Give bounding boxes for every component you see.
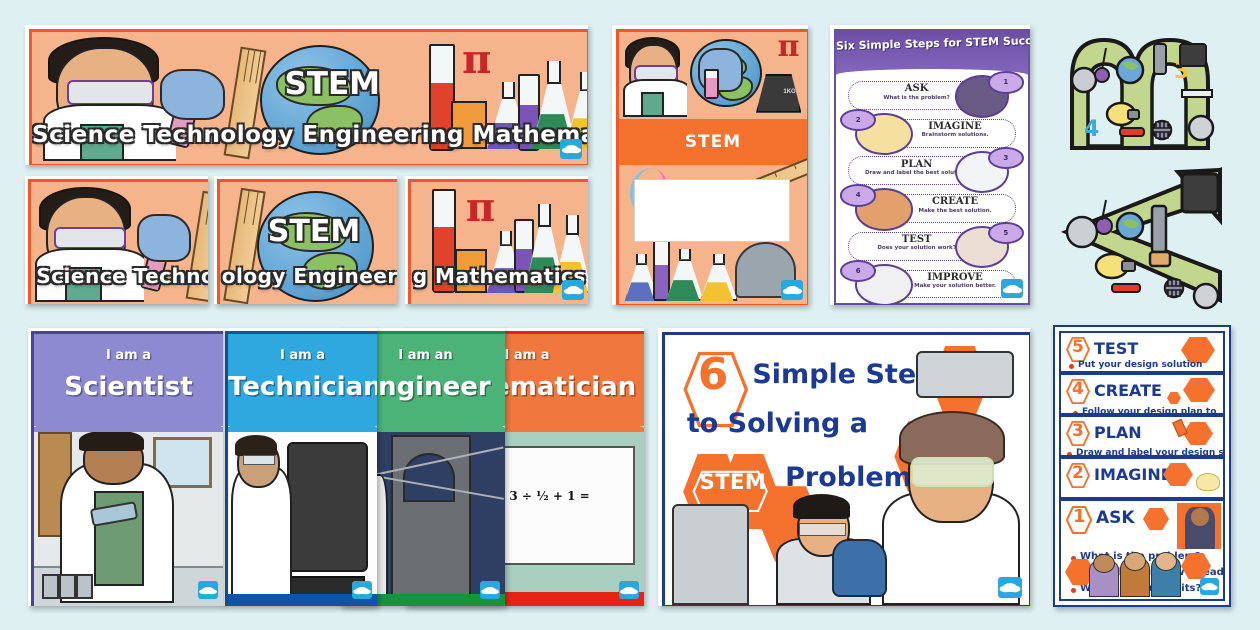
- resource-pack-collage: STEM π Science Technology Eng: [0, 0, 1260, 630]
- stem-poster-band-label: STEM: [685, 132, 741, 152]
- twinkl-logo: [1200, 578, 1219, 595]
- female-scientist-illustration: [876, 411, 1022, 605]
- twinkl-logo: [198, 581, 218, 599]
- pencil-icon: [1154, 44, 1166, 74]
- big-six-steps-poster: 6 Simple Steps to Solving a STEM Problem: [662, 332, 1030, 606]
- banner-subtitle: Science Technology Engineering Mathemati…: [32, 122, 587, 148]
- step-number: 3: [988, 147, 1025, 169]
- banner-split-text-2: ology Engineering: [222, 264, 397, 288]
- banner-stem-word: STEM: [285, 66, 381, 102]
- role-poster-scientist[interactable]: I am a Scientist: [28, 328, 223, 606]
- conical-flask-yellow: [700, 254, 734, 301]
- microbe-icon: [1095, 68, 1109, 82]
- banner-split-text-1: Science Techno: [36, 264, 208, 288]
- stem-poster-top-art: π 1KG: [619, 32, 807, 119]
- twinkl-logo: [781, 280, 803, 300]
- test-tube: [704, 69, 719, 99]
- six-steps-title: Six Simple Steps for STEM Success: [836, 34, 1028, 52]
- student-group-illustration: [1089, 555, 1181, 597]
- scientist-illustration: [623, 35, 687, 117]
- six-steps-row: CREATE Make the best solution. 4: [836, 190, 1028, 225]
- stem-poster-art: π 1KG STEM: [616, 29, 808, 305]
- role-name: Scientist: [34, 372, 223, 402]
- role-poster-technician[interactable]: I am a Technician: [222, 328, 377, 606]
- magnet-icon: [1120, 128, 1144, 136]
- step-number: 5: [988, 222, 1025, 244]
- six-steps-row: TEST Does your solution work? 5: [836, 228, 1028, 263]
- twinkl-logo: [352, 581, 372, 599]
- big-poster-stem: STEM: [700, 470, 767, 494]
- display-letter-a[interactable]: [1052, 160, 1232, 310]
- role-scene-technician: [228, 432, 377, 606]
- step-card-create[interactable]: 4 CREATE Follow your design plan to: [1059, 373, 1225, 415]
- screen-icon: [1182, 174, 1218, 212]
- globe-icon: [1117, 57, 1143, 83]
- robot-arm-illustration: [916, 351, 1015, 398]
- step-number: 3: [1072, 421, 1084, 441]
- stem-poster-card[interactable]: π 1KG STEM: [612, 25, 808, 305]
- hexagon-decor-small: [1167, 392, 1181, 404]
- display-letter-m[interactable]: 4 3: [1058, 30, 1228, 150]
- student-head: [1191, 508, 1209, 526]
- gloved-hand: [160, 69, 225, 121]
- moon-icon: [1189, 116, 1213, 140]
- twinkl-logo: [480, 581, 500, 599]
- stem-poster-band: STEM: [619, 119, 807, 165]
- step-number: 1: [1073, 506, 1086, 527]
- banner-full-card[interactable]: STEM π Science Technology Eng: [25, 25, 588, 165]
- six-steps-poster-card[interactable]: Six Simple Steps for STEM Success ASK Wh…: [830, 25, 1030, 305]
- lightbulb-icon: [1196, 473, 1220, 491]
- six-steps-body: ASK What is the problem? 1 IMAGINE Brain…: [836, 75, 1028, 303]
- computer-monitor: [287, 442, 368, 571]
- twinkl-logo: [562, 280, 584, 300]
- pi-symbol: π: [466, 184, 495, 231]
- microbe-icon: [1096, 218, 1112, 234]
- letter-m-shape: 4 3: [1058, 30, 1228, 150]
- six-steps-row: IMAGINE Brainstorm solutions. 2: [836, 115, 1028, 150]
- twinkl-logo: [560, 139, 582, 159]
- pi-symbol: π: [462, 36, 491, 83]
- hexagon-decor: [1183, 378, 1215, 402]
- step-number: 4: [840, 184, 877, 206]
- weight-label: 1KG: [783, 89, 795, 95]
- role-prefix: I am a: [34, 348, 223, 363]
- banner-split-art-1: Science Techno: [28, 179, 208, 304]
- step-card-test[interactable]: 5 TEST Put your design solution: [1059, 331, 1225, 373]
- role-art: I am a Technician: [225, 331, 377, 606]
- twinkl-logo: [1001, 279, 1023, 298]
- banner-split-stem-word: STEM: [268, 214, 360, 249]
- number-4: 4: [1084, 117, 1099, 142]
- step-card-ask[interactable]: 1 ASK What is the problem? What do you k…: [1059, 499, 1225, 601]
- role-art: I am a Scientist: [31, 331, 223, 606]
- moon-icon: [1067, 217, 1097, 247]
- conical-flask-green: [666, 249, 700, 302]
- banner-split-art-3: π g Mathematics: [408, 179, 588, 304]
- step-bullet: Put your design solution: [1078, 360, 1202, 370]
- moon-icon: [1194, 284, 1218, 308]
- hexagon-decor: [1143, 508, 1169, 530]
- six-steps-row: IMPROVE Make your solution better. 6: [836, 265, 1028, 300]
- step-bullet: Follow your design plan to: [1082, 407, 1216, 415]
- hexagon-decor: [1183, 422, 1213, 445]
- role-prefix: I am a: [228, 348, 377, 363]
- step-bullet: Draw and label your design solution: [1076, 448, 1225, 457]
- pi-symbol: π: [778, 29, 800, 64]
- step-title: PLAN: [1094, 423, 1142, 442]
- stem-poster-text-box[interactable]: [634, 179, 790, 242]
- step-card-plan[interactable]: 3 PLAN Draw and label your design soluti…: [1059, 415, 1225, 457]
- twinkl-logo: [619, 581, 639, 599]
- conical-flask-blue: [625, 254, 655, 301]
- step-title: TEST: [1094, 339, 1138, 358]
- six-steps-row: ASK What is the problem? 1: [836, 77, 1028, 112]
- step-title: ASK: [1096, 508, 1135, 528]
- six-steps-header: Six Simple Steps for STEM Success: [836, 31, 1028, 75]
- big-six-steps-poster-card[interactable]: 6 Simple Steps to Solving a STEM Problem: [658, 328, 1030, 606]
- twinkl-logo: [998, 577, 1022, 598]
- banner-split-art-2: STEM ology Engineering: [217, 179, 397, 304]
- role-name: Technician: [228, 372, 377, 402]
- stem-poster-bottom-art: [619, 165, 807, 304]
- gloved-hand-blue: [832, 539, 887, 597]
- letter-a-shape: [1052, 160, 1232, 310]
- big-poster-line2: to Solving a: [687, 408, 868, 439]
- banner-split-panel-3[interactable]: π g Mathematics: [405, 176, 588, 304]
- moon-icon: [1072, 68, 1096, 92]
- ruler-icon: [1182, 90, 1212, 97]
- step-title: CREATE: [1094, 381, 1162, 400]
- step-number: 1: [988, 71, 1025, 93]
- big-poster-number: 6: [698, 349, 729, 400]
- role-scene-scientist: [34, 432, 223, 606]
- saw-icon: [1152, 206, 1166, 252]
- magnet-icon: [1112, 284, 1140, 292]
- six-steps-row: PLAN Draw and label the best solution. 3: [836, 152, 1028, 187]
- step-title: IMAGINE: [1094, 465, 1172, 484]
- step-number: 2: [1072, 463, 1084, 483]
- banner-split-panel-1[interactable]: Science Techno: [25, 176, 208, 304]
- screen-icon: [1180, 44, 1206, 66]
- banner-full-art: STEM π Science Technology Eng: [29, 29, 588, 165]
- banner-split-panel-2[interactable]: STEM ology Engineering: [214, 176, 397, 304]
- gloved-hand: [137, 214, 191, 262]
- step-number: 5: [1072, 337, 1084, 357]
- step-cards-stack[interactable]: 5 TEST Put your design solution 4 CREATE…: [1053, 325, 1231, 607]
- microscope-illustration: [672, 504, 749, 605]
- step-card-imagine[interactable]: 2 IMAGINE: [1059, 457, 1225, 499]
- step-number: 4: [1072, 379, 1084, 399]
- six-steps-poster: Six Simple Steps for STEM Success ASK Wh…: [834, 29, 1030, 305]
